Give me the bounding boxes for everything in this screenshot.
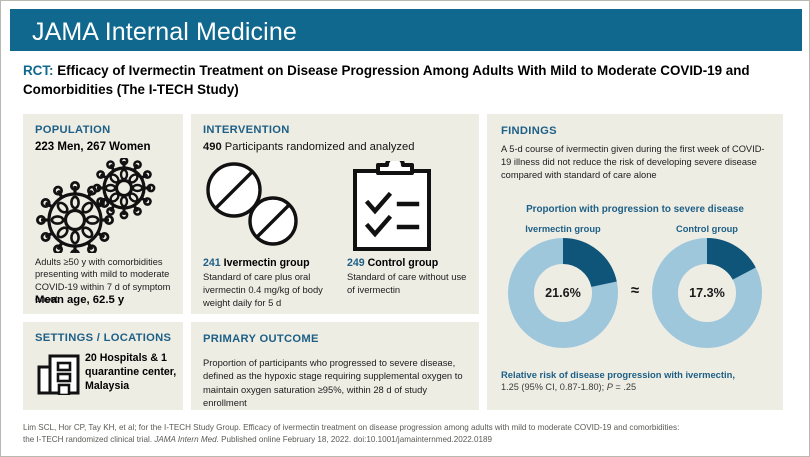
relative-risk-value: 1.25 (95% CI, 0.87-1.80); P = .25: [501, 382, 773, 392]
participant-count: 490: [203, 141, 222, 153]
donut-label-control: Control group: [647, 224, 767, 234]
citation-doi: Published online February 18, 2022. doi:…: [219, 435, 492, 444]
approx-equal-icon: ≈: [620, 282, 650, 299]
group-title-control: 249 Control group: [347, 256, 467, 270]
journal-title: JAMA Internal Medicine: [32, 18, 297, 47]
donut-label-ivermectin: Ivermectin group: [503, 224, 623, 234]
group-count-control: 249: [347, 257, 365, 269]
chart-title: Proportion with progression to severe di…: [487, 204, 783, 215]
group-count-ivermectin: 241: [203, 257, 221, 269]
population-mean-age: Mean age, 62.5 y: [35, 294, 124, 306]
population-heading: POPULATION: [35, 124, 111, 136]
group-name-control: Control group: [365, 257, 439, 269]
primary-outcome-panel: PRIMARY OUTCOME Proportion of participan…: [191, 322, 479, 410]
findings-text: A 5-d course of ivermectin given during …: [501, 143, 769, 183]
group-desc-ivermectin: Standard of care plus oral ivermectin 0.…: [203, 271, 323, 307]
citation-footer: Lim SCL, Hor CP, Tay KH, et al; for the …: [23, 422, 785, 445]
intervention-heading: INTERVENTION: [203, 124, 290, 136]
donut-chart-ivermectin: 21.6%: [508, 238, 618, 348]
citation-line-1: Lim SCL, Hor CP, Tay KH, et al; for the …: [23, 422, 785, 434]
infographic-page: JAMA Internal Medicine RCT: Efficacy of …: [0, 0, 810, 457]
intervention-group-ivermectin: 241 Ivermectin group Standard of care pl…: [203, 256, 331, 309]
relative-risk-number: 1.25 (95% CI, 0.87-1.80);: [501, 382, 607, 392]
group-title-ivermectin: 241 Ivermectin group: [203, 256, 331, 270]
p-value: = .25: [613, 382, 636, 392]
study-type-tag: RCT:: [23, 63, 54, 78]
donut-value-ivermectin: 21.6%: [508, 238, 618, 348]
donut-chart-control: 17.3%: [652, 238, 762, 348]
settings-locations-panel: SETTINGS / LOCATIONS 20 Hospitals & 1 qu…: [23, 322, 183, 410]
outcome-heading: PRIMARY OUTCOME: [203, 333, 319, 345]
intervention-group-control: 249 Control group Standard of care witho…: [347, 256, 467, 297]
settings-text: 20 Hospitals & 1 quarantine center, Mala…: [85, 352, 179, 394]
citation-trial: the I-TECH randomized clinical trial.: [23, 435, 154, 444]
page-title: RCT: Efficacy of Ivermectin Treatment on…: [23, 61, 783, 99]
intervention-participants: 490 Participants randomized and analyzed: [203, 141, 414, 153]
citation-journal: JAMA Intern Med.: [154, 435, 218, 444]
intervention-panel: INTERVENTION 490 Participants randomized…: [191, 114, 479, 314]
group-name-ivermectin: Ivermectin group: [221, 257, 310, 269]
donut-value-control: 17.3%: [652, 238, 762, 348]
pills-icon: [201, 161, 311, 251]
study-title-text: Efficacy of Ivermectin Treatment on Dise…: [23, 63, 750, 97]
population-subheading: 223 Men, 267 Women: [35, 141, 150, 153]
group-desc-control: Standard of care without use of ivermect…: [347, 271, 466, 295]
participant-count-label: Participants randomized and analyzed: [222, 141, 415, 153]
population-panel: POPULATION 223 Men, 267 Women: [23, 114, 183, 314]
journal-header-bar: JAMA Internal Medicine: [10, 9, 802, 51]
citation-line-2: the I-TECH randomized clinical trial. JA…: [23, 434, 785, 446]
clipboard-icon: [347, 161, 437, 251]
findings-heading: FINDINGS: [501, 125, 557, 137]
coronavirus-icon: [31, 158, 177, 253]
relative-risk-label: Relative risk of disease progression wit…: [501, 369, 773, 382]
findings-panel: FINDINGS A 5-d course of ivermectin give…: [487, 114, 783, 410]
hospital-icon: [37, 353, 81, 395]
outcome-text: Proportion of participants who progresse…: [203, 356, 469, 409]
settings-heading: SETTINGS / LOCATIONS: [35, 332, 171, 344]
